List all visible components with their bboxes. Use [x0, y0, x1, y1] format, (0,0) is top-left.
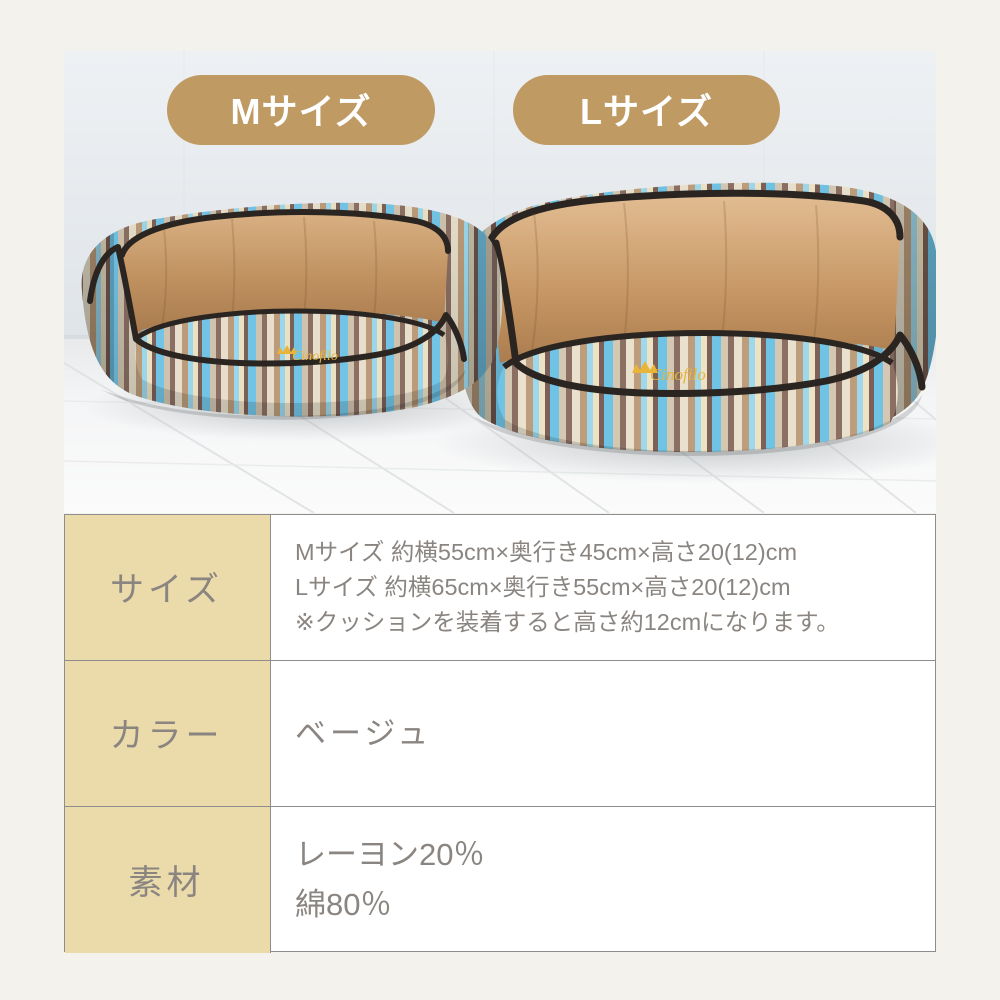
bed-medium: Cinofilo [74, 191, 514, 431]
spec-row-color: カラー ベージュ [65, 661, 935, 807]
spec-material-line-2: 綿80％ [295, 880, 935, 930]
spec-size-line-3: ※クッションを装着すると高さ約12cmになります。 [295, 605, 935, 640]
spec-table: サイズ Mサイズ 約横55cm×奥行き45cm×高さ20(12)cm Lサイズ … [64, 514, 936, 952]
spec-label-size: サイズ [65, 515, 271, 660]
badge-size-l: Lサイズ [513, 75, 780, 145]
spec-size-line-1: Mサイズ 約横55cm×奥行き45cm×高さ20(12)cm [295, 535, 935, 570]
spec-label-material: 素材 [65, 807, 271, 953]
spec-label-color: カラー [65, 661, 271, 806]
svg-text:Cinofilo: Cinofilo [650, 365, 706, 384]
spec-color-line-1: ベージュ [295, 714, 935, 754]
spec-value-color: ベージュ [271, 661, 935, 806]
svg-text:Cinofilo: Cinofilo [292, 349, 338, 364]
badge-size-m: Mサイズ [167, 75, 435, 145]
bed-large: Cinofilo [444, 171, 936, 471]
spec-material-line-1: レーヨン20％ [295, 830, 935, 880]
product-detail-page: Cinofilo [0, 0, 1000, 1000]
spec-row-size: サイズ Mサイズ 約横55cm×奥行き45cm×高さ20(12)cm Lサイズ … [65, 514, 935, 661]
spec-row-material: 素材 レーヨン20％ 綿80％ [65, 807, 935, 953]
spec-value-size: Mサイズ 約横55cm×奥行き45cm×高さ20(12)cm Lサイズ 約横65… [271, 515, 935, 660]
spec-value-material: レーヨン20％ 綿80％ [271, 807, 935, 953]
spec-size-line-2: Lサイズ 約横65cm×奥行き55cm×高さ20(12)cm [295, 570, 935, 605]
